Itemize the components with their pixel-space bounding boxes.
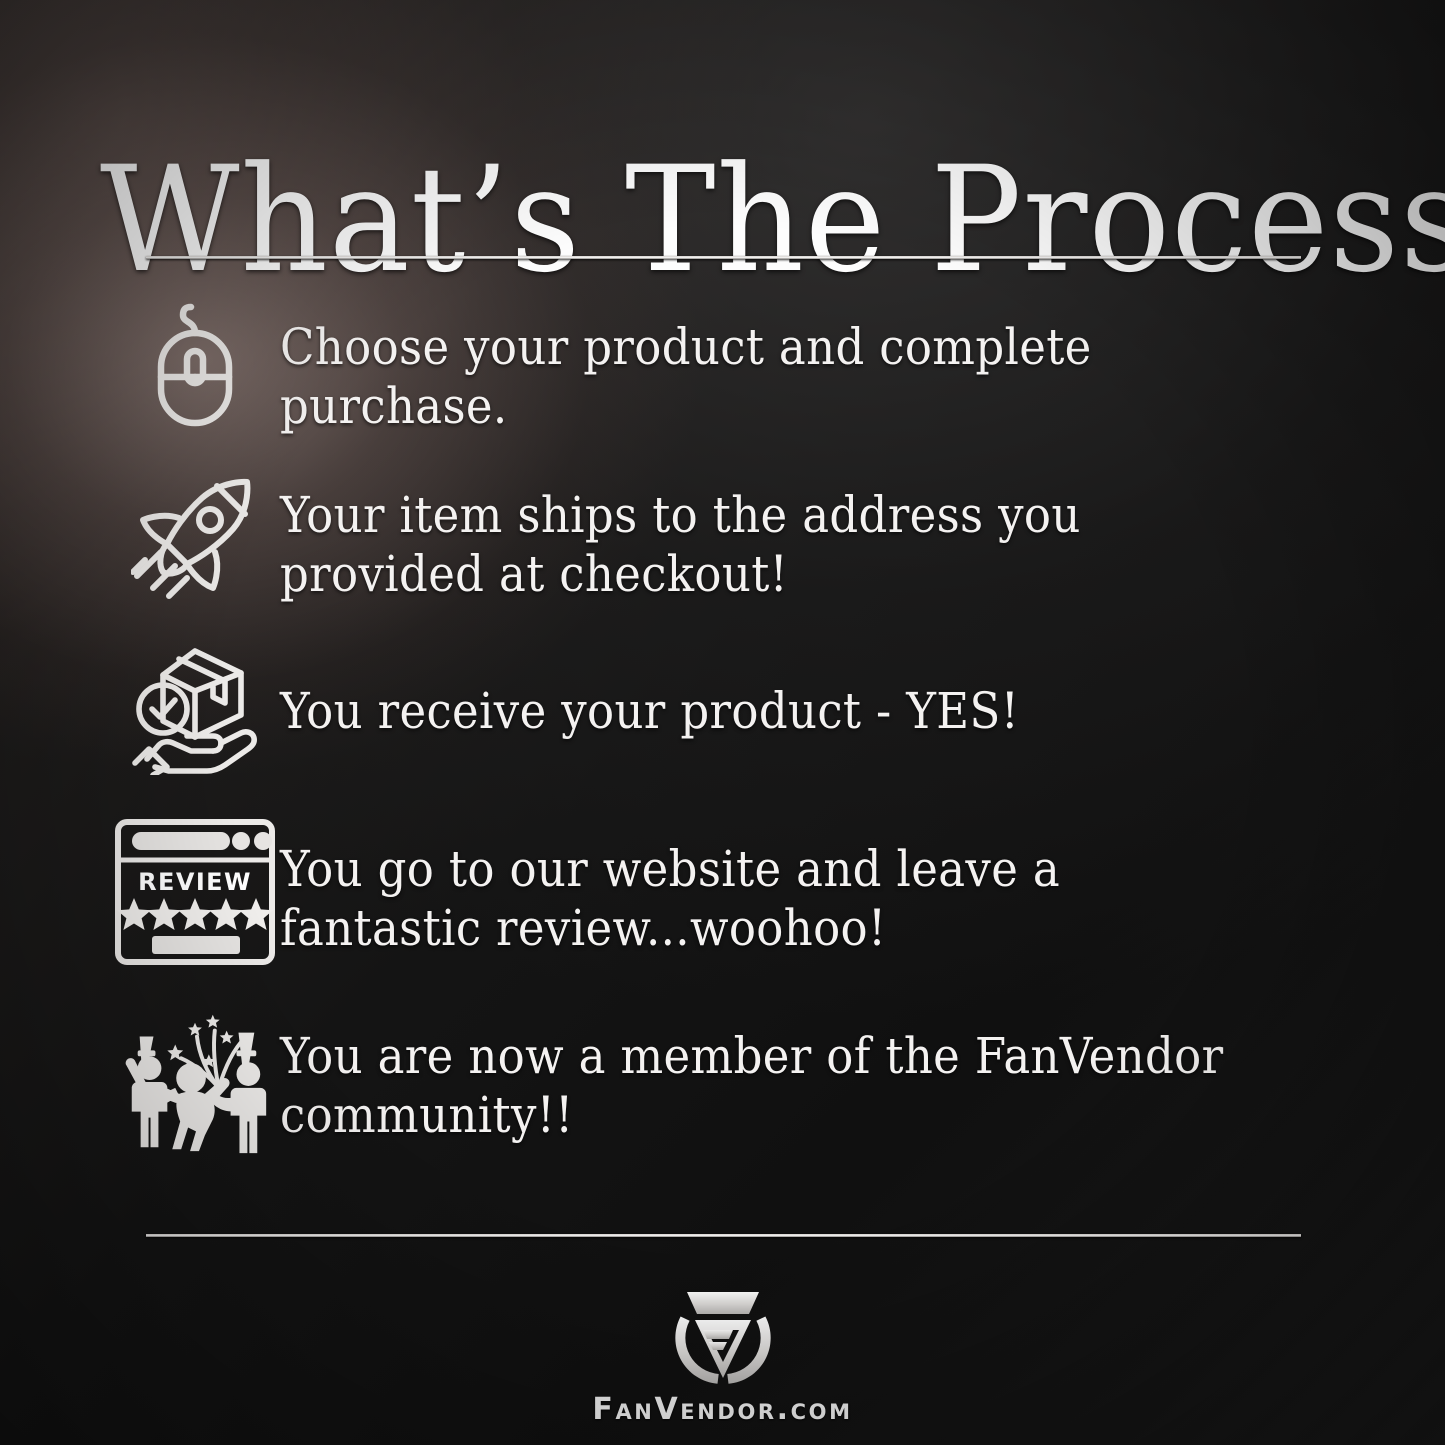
footer: FanVendor.com — [0, 1286, 1445, 1427]
computer-mouse-icon — [110, 300, 280, 430]
list-item: Choose your product and complete purchas… — [0, 300, 1445, 436]
divider-top — [146, 256, 1301, 259]
list-item: You are now a member of the FanVendor co… — [0, 1007, 1445, 1157]
poster-content: What’s The Process Choose your product a… — [0, 0, 1445, 1445]
list-item-label: You are now a member of the FanVendor co… — [280, 1007, 1329, 1145]
fanvendor-shield-logo — [671, 1286, 775, 1384]
list-item-label: Choose your product and complete purchas… — [280, 300, 1329, 436]
list-item: Your item ships to the address you provi… — [0, 472, 1445, 604]
list-item-label: Your item ships to the address you provi… — [280, 472, 1329, 604]
list-item-label: You receive your product - YES! — [280, 640, 1329, 741]
browser-review-stars-icon: REVIEW — [110, 814, 280, 969]
svg-text:REVIEW: REVIEW — [138, 868, 252, 896]
list-item: You receive your product - YES! — [0, 640, 1445, 780]
process-steps-list: Choose your product and complete purchas… — [0, 300, 1445, 1157]
rocket-icon — [110, 472, 280, 602]
hand-holding-package-check-icon — [110, 640, 280, 780]
list-item: REVIEW You go to our website and leave a… — [0, 814, 1445, 969]
page-title: What’s The Process — [100, 146, 1290, 295]
divider-bottom — [146, 1234, 1301, 1237]
list-item-label: You go to our website and leave a fantas… — [280, 814, 1329, 958]
footer-wordmark: FanVendor.com — [592, 1392, 852, 1427]
celebration-party-people-icon — [110, 1007, 280, 1157]
poster-canvas: What’s The Process Choose your product a… — [0, 0, 1445, 1445]
